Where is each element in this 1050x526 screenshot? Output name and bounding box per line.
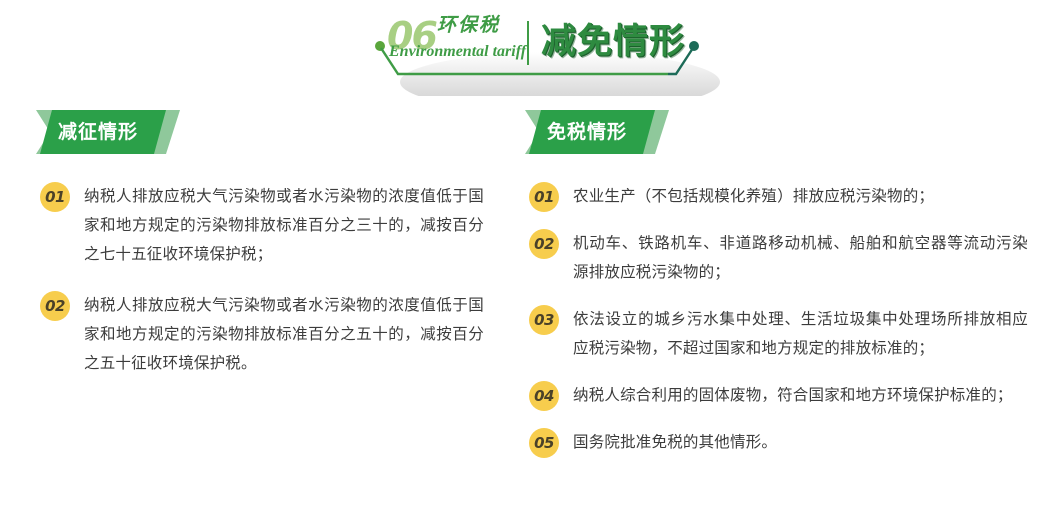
column-exemption: 免税情形 01 农业生产（不包括规模化养殖）排放应税污染物的； 02 机动车、铁… xyxy=(525,108,1025,475)
list-item: 02 纳税人排放应税大气污染物或者水污染物的浓度值低于国家和地方规定的污染物排放… xyxy=(36,291,506,378)
header-divider xyxy=(527,21,529,65)
header-number-block: 06 环保税 Environmental tariff xyxy=(387,16,537,74)
item-number-badge: 01 xyxy=(40,182,70,212)
list-item: 02 机动车、铁路机车、非道路移动机械、船舶和航空器等流动污染源排放应税污染物的… xyxy=(525,229,1025,287)
list-item: 04 纳税人综合利用的固体废物，符合国家和地方环境保护标准的； xyxy=(525,381,1025,410)
item-text: 纳税人排放应税大气污染物或者水污染物的浓度值低于国家和地方规定的污染物排放标准百… xyxy=(84,291,484,378)
column-reduction: 减征情形 01 纳税人排放应税大气污染物或者水污染物的浓度值低于国家和地方规定的… xyxy=(36,108,506,400)
item-text: 纳税人排放应税大气污染物或者水污染物的浓度值低于国家和地方规定的污染物排放标准百… xyxy=(84,182,484,269)
header-cn-label: 环保税 xyxy=(437,16,500,35)
ribbon-label-reduction: 减征情形 xyxy=(58,108,138,156)
item-number-badge: 05 xyxy=(529,428,559,458)
list-item: 01 农业生产（不包括规模化养殖）排放应税污染物的； xyxy=(525,182,1025,211)
item-number-badge: 04 xyxy=(529,381,559,411)
list-item: 01 纳税人排放应税大气污染物或者水污染物的浓度值低于国家和地方规定的污染物排放… xyxy=(36,182,506,269)
item-number-badge: 02 xyxy=(529,229,559,259)
item-number-badge: 01 xyxy=(529,182,559,212)
item-number-badge: 02 xyxy=(40,291,70,321)
item-text: 机动车、铁路机车、非道路移动机械、船舶和航空器等流动污染源排放应税污染物的； xyxy=(573,229,1028,287)
item-text: 纳税人综合利用的固体废物，符合国家和地方环境保护标准的； xyxy=(573,381,1028,410)
list-item: 03 依法设立的城乡污水集中处理、生活垃圾集中处理场所排放相应应税污染物，不超过… xyxy=(525,305,1025,363)
item-number-badge: 03 xyxy=(529,305,559,335)
header-title-group: 06 环保税 Environmental tariff 减免情形 xyxy=(375,14,695,76)
item-text: 农业生产（不包括规模化养殖）排放应税污染物的； xyxy=(573,182,1028,211)
page-title: 减免情形 xyxy=(541,16,685,68)
ribbon-banner-exemption: 免税情形 xyxy=(525,108,669,156)
header-en-label: Environmental tariff xyxy=(389,43,526,61)
item-text: 依法设立的城乡污水集中处理、生活垃圾集中处理场所排放相应应税污染物，不超过国家和… xyxy=(573,305,1028,363)
ribbon-label-exemption: 免税情形 xyxy=(547,108,627,156)
list-item: 05 国务院批准免税的其他情形。 xyxy=(525,428,1025,457)
page-header: 06 环保税 Environmental tariff 减免情形 xyxy=(0,0,1050,96)
item-text: 国务院批准免税的其他情形。 xyxy=(573,428,1028,457)
ribbon-banner-reduction: 减征情形 xyxy=(36,108,180,156)
